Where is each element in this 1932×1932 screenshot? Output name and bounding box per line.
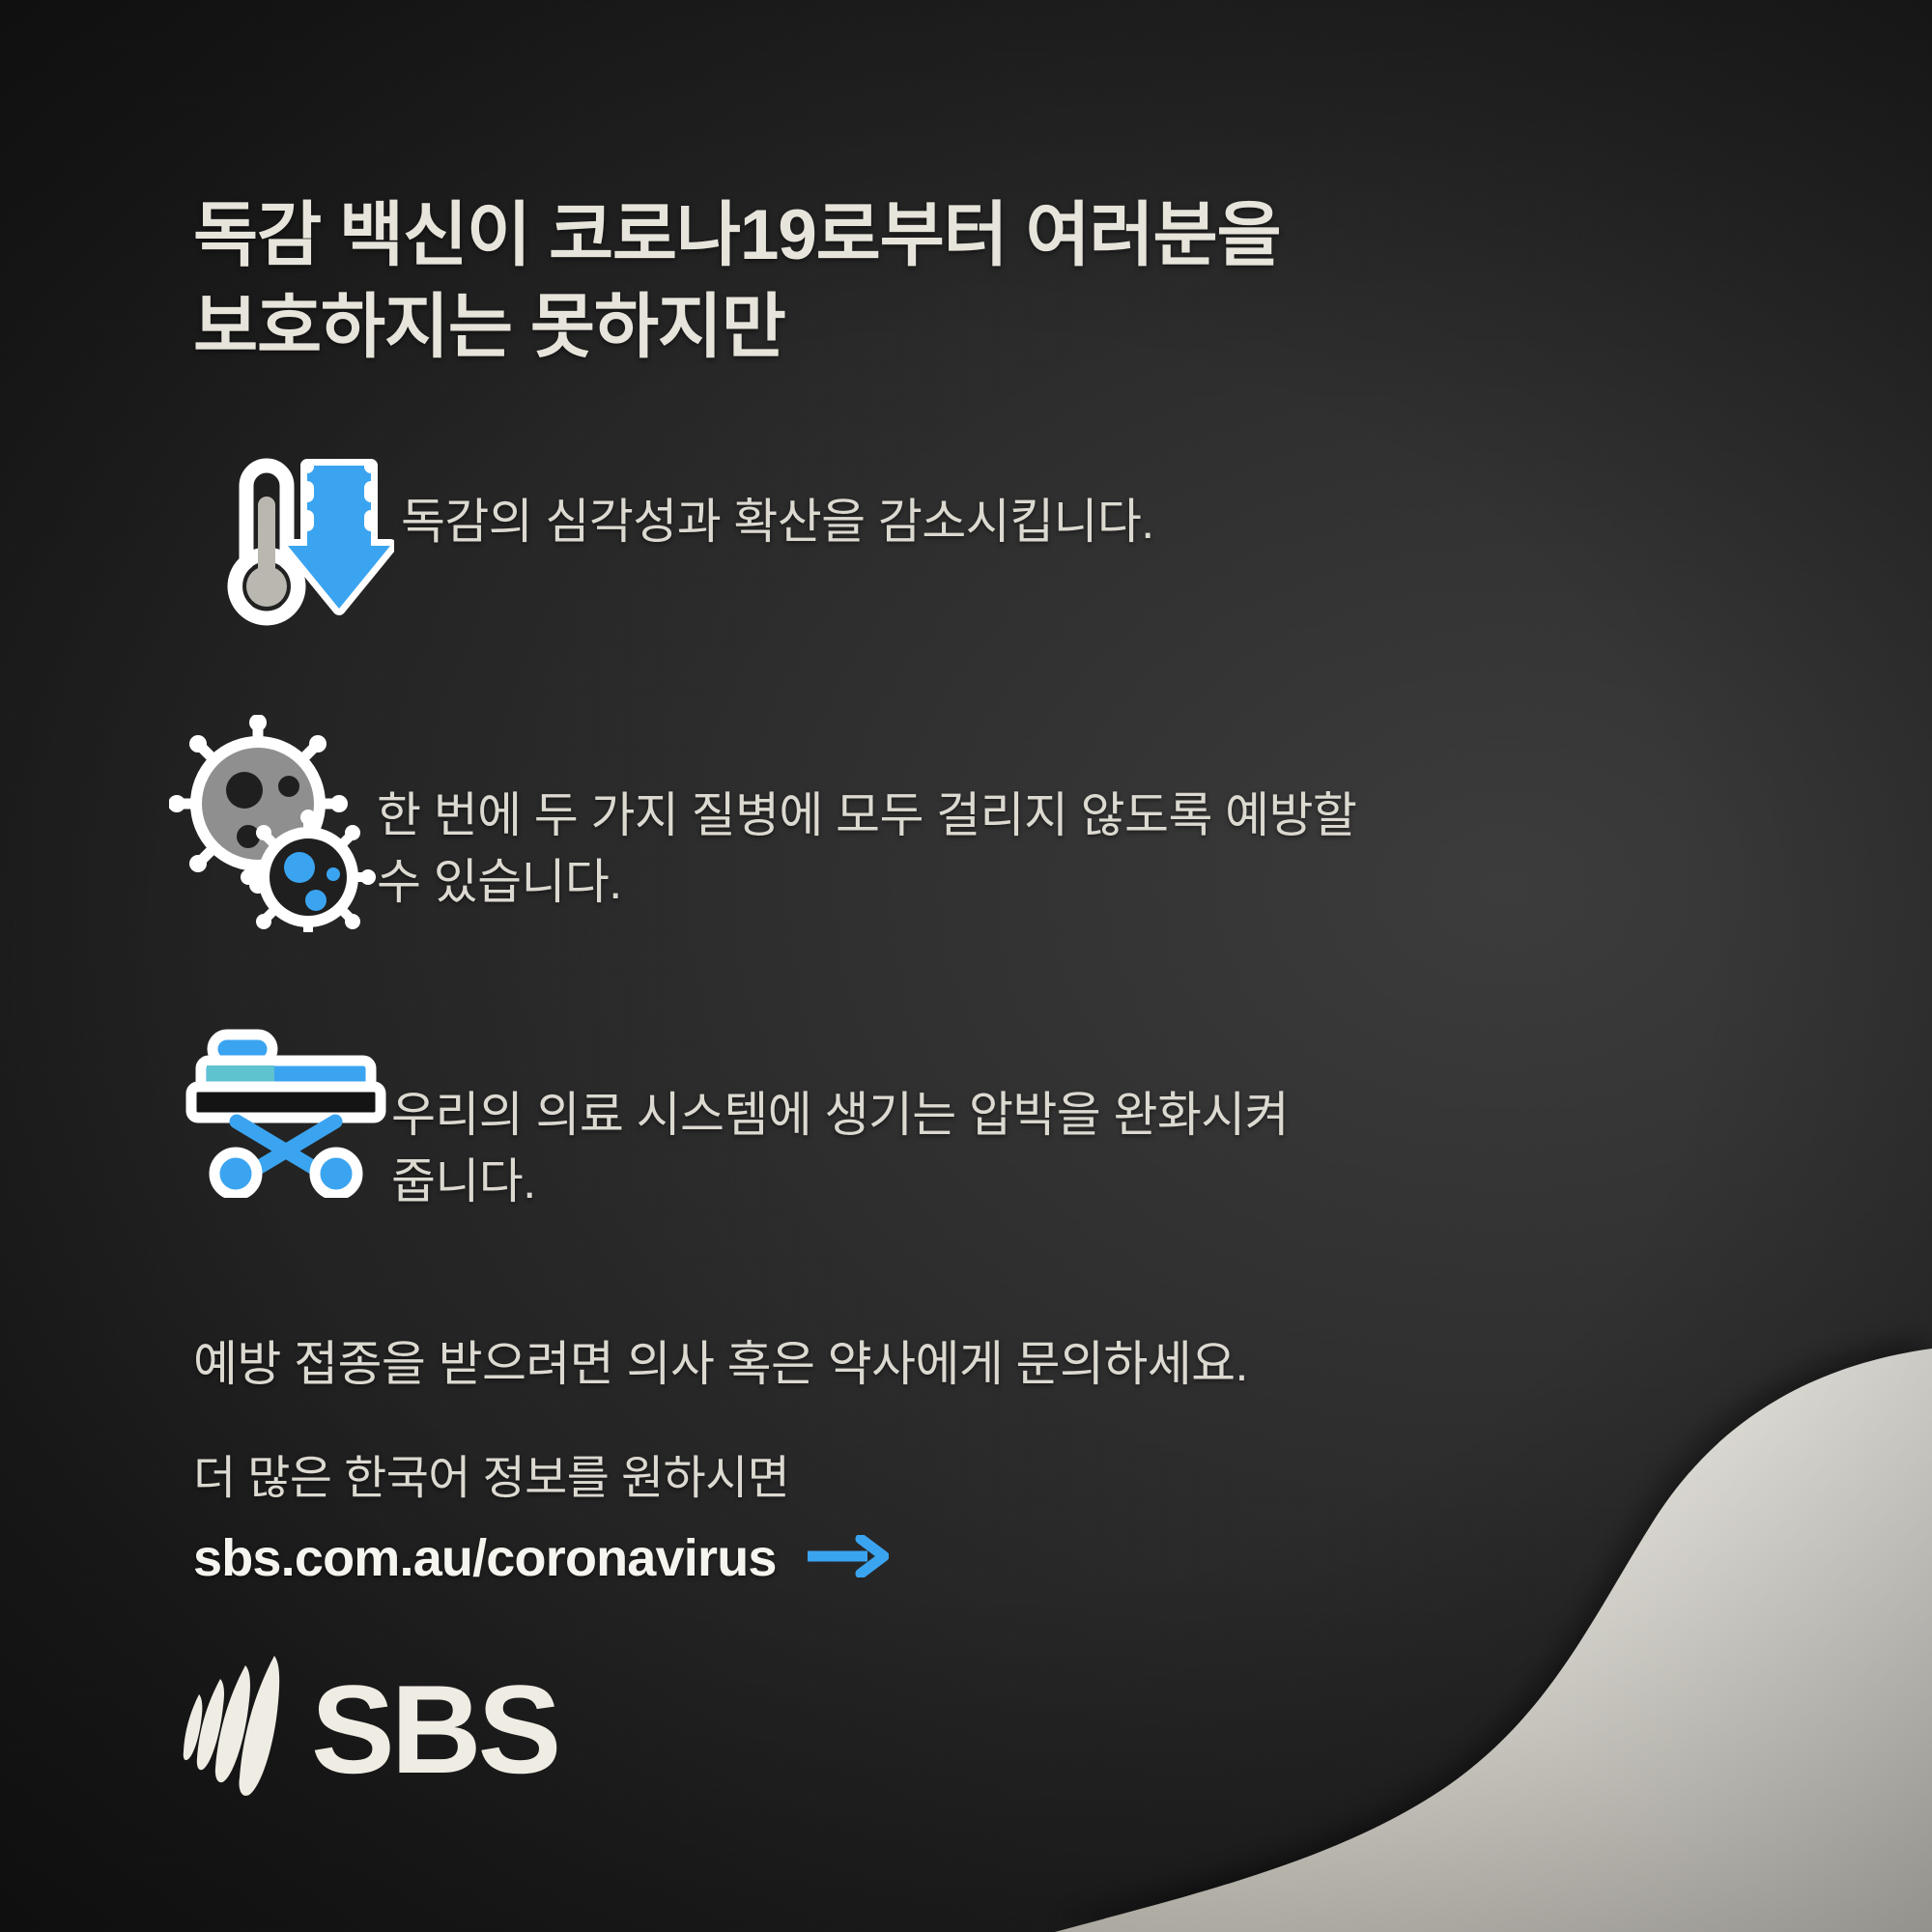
sbs-flame-mark-icon (182, 1654, 307, 1804)
two-viruses-icon (169, 715, 377, 932)
website-link[interactable]: sbs.com.au/coronavirus (193, 1528, 889, 1588)
list-item: 독감의 심각성과 확산을 감소시킵니다. (193, 454, 1700, 642)
list-item: 우리의 의료 시스템에 생기는 압박을 완화시켜 줍니다. (184, 1029, 1729, 1215)
list-item-label: 독감의 심각성과 확산을 감소시킵니다. (401, 454, 1154, 555)
list-item-label: 우리의 의료 시스템에 생기는 압박을 완화시켜 줍니다. (391, 1029, 1289, 1215)
vaccination-advice-text: 예방 접종을 받으려면 의사 혹은 약사에게 문의하세요. (193, 1325, 1248, 1395)
sbs-logo: SBS (182, 1654, 557, 1804)
hospital-stretcher-icon (184, 1029, 391, 1198)
website-url-label[interactable]: sbs.com.au/coronavirus (193, 1528, 777, 1588)
list-item-label: 한 번에 두 가지 질병에 모두 걸리지 않도록 예방할 수 있습니다. (377, 715, 1356, 916)
more-info-text: 더 많은 한국어 정보를 원하시면 (193, 1439, 789, 1507)
list-item: 한 번에 두 가지 질병에 모두 걸리지 않도록 예방할 수 있습니다. (169, 715, 1734, 932)
poster-canvas: 독감 백신이 코로나19로부터 여러분을 보호하지는 못하지만 (0, 0, 1932, 1932)
sbs-wordmark: SBS (311, 1666, 557, 1792)
arrow-right-icon (806, 1535, 889, 1581)
thermometer-down-arrow-icon (193, 454, 401, 642)
page-headline: 독감 백신이 코로나19로부터 여러분을 보호하지는 못하지만 (193, 190, 1623, 374)
